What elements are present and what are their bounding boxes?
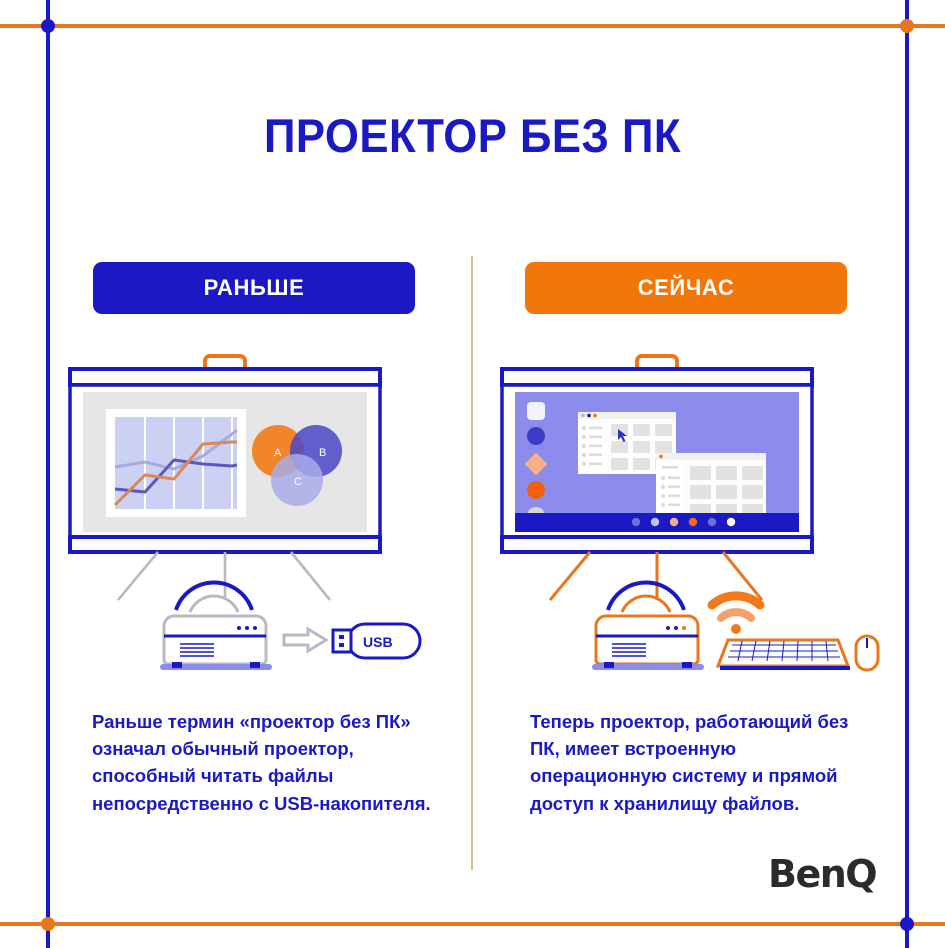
illustration-now-svg xyxy=(490,352,882,692)
illustration-before-svg: A B C xyxy=(58,352,450,692)
svg-text:B: B xyxy=(319,447,326,459)
column-divider xyxy=(471,256,473,870)
frame-line-bottom xyxy=(0,922,945,926)
corner-dot-top-left xyxy=(41,19,55,33)
svg-text:C: C xyxy=(294,476,302,488)
frame-line-top xyxy=(0,24,945,28)
column-now: СЕЙЧАС xyxy=(490,262,882,817)
wifi-icon xyxy=(712,596,760,634)
file-window-2 xyxy=(656,453,766,519)
benq-logo: BenQ xyxy=(768,852,876,896)
illustration-before: A B C xyxy=(58,352,450,692)
arrow-left-icon xyxy=(284,629,326,651)
svg-text:A: A xyxy=(274,447,282,459)
corner-dot-top-right xyxy=(900,19,914,33)
paragraph-now: Теперь проектор, работающий без ПК, имее… xyxy=(490,708,882,817)
corner-dot-bottom-left xyxy=(41,917,55,931)
usb-drive-icon: USB xyxy=(333,624,420,658)
corner-dot-bottom-right xyxy=(900,917,914,931)
badge-before: РАНЬШЕ xyxy=(93,262,415,314)
keyboard-icon xyxy=(718,640,850,670)
mouse-icon xyxy=(856,636,878,670)
column-before: РАНЬШЕ xyxy=(58,262,450,817)
page-title: ПРОЕКТОР БЕЗ ПК xyxy=(33,108,912,163)
paragraph-before: Раньше термин «проектор без ПК» означал … xyxy=(58,708,450,817)
illustration-now xyxy=(490,352,882,692)
badge-now: СЕЙЧАС xyxy=(525,262,847,314)
svg-text:USB: USB xyxy=(363,634,393,650)
